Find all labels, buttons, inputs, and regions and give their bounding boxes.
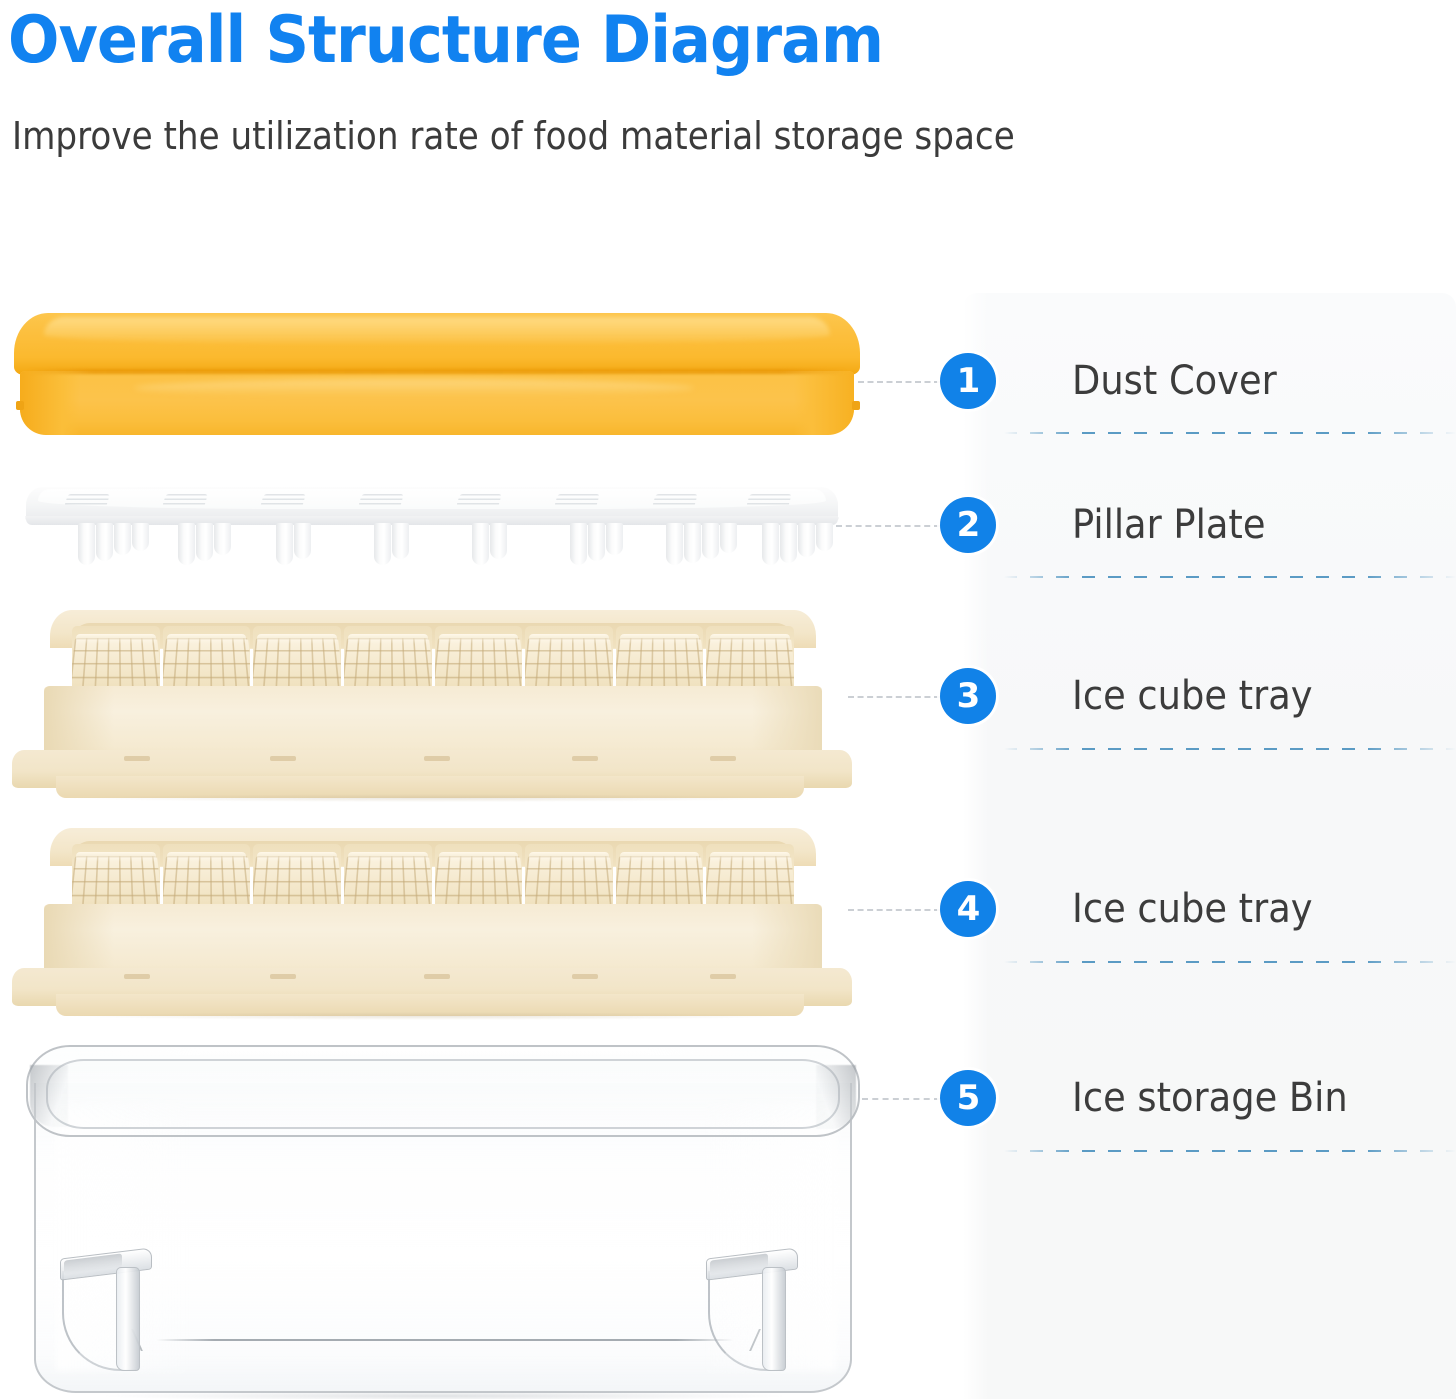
pillar-plate-slot <box>260 494 306 507</box>
tray-shadow <box>72 1012 792 1020</box>
tray-cell <box>525 844 613 910</box>
callout-badge-1[interactable]: 1 <box>940 353 996 409</box>
pillar <box>472 523 489 565</box>
cell-grid-texture <box>435 638 523 692</box>
flange-tab <box>710 756 736 761</box>
flange-tab <box>124 974 150 979</box>
tray-cell <box>435 626 523 692</box>
tray-cell <box>72 844 160 910</box>
cell-grid-texture <box>163 638 251 692</box>
flange-tab <box>124 756 150 761</box>
cell-grid-texture <box>253 638 341 692</box>
cell-grid-texture <box>706 638 794 692</box>
cell-highlight <box>710 634 790 644</box>
tray-cell <box>253 844 341 910</box>
bin-corner-left-shade <box>30 1065 68 1127</box>
pillar <box>780 523 797 563</box>
tray-shadow <box>72 794 792 802</box>
handle-post <box>762 1267 786 1371</box>
leader-line-2 <box>836 525 940 527</box>
tray-cells <box>72 844 794 910</box>
bin-corner-right-shade <box>816 1065 856 1129</box>
pillar <box>374 523 391 565</box>
structure-diagram-page: Overall Structure Diagram Improve the ut… <box>0 0 1456 1399</box>
pillar <box>490 523 507 559</box>
cell-highlight <box>620 634 700 644</box>
cell-grid-texture <box>616 638 704 692</box>
tray-cell <box>435 844 523 910</box>
dust-cover-gloss <box>134 379 694 397</box>
cell-highlight <box>167 852 247 862</box>
cell-highlight <box>529 852 609 862</box>
tray-cells <box>72 626 794 692</box>
flange-tab <box>270 974 296 979</box>
pillar <box>276 523 293 565</box>
pillar <box>684 523 701 563</box>
pillar <box>294 523 311 559</box>
flange-tab <box>270 756 296 761</box>
bin-handle-left <box>60 1253 152 1371</box>
page-subtitle: Improve the utilization rate of food mat… <box>12 110 1272 162</box>
handle-post <box>116 1267 140 1371</box>
pillar-plate-slot <box>554 494 600 507</box>
cell-grid-texture <box>616 856 704 910</box>
flange-tab <box>572 974 598 979</box>
cell-grid-texture <box>344 856 432 910</box>
callout-badge-5[interactable]: 5 <box>940 1070 996 1126</box>
cell-highlight <box>620 852 700 862</box>
pillar <box>762 523 779 565</box>
callout-divider-1 <box>1004 432 1456 434</box>
cell-highlight <box>348 634 428 644</box>
pillar <box>78 523 95 565</box>
dust-cover-top-sheen <box>44 317 830 343</box>
cell-highlight <box>348 852 428 862</box>
ice-cube-tray-illustration-upper <box>12 610 852 795</box>
dust-cover-right-nub <box>852 401 860 410</box>
cell-highlight <box>710 852 790 862</box>
pillar-plate-slot <box>64 494 110 507</box>
cell-highlight <box>76 634 156 644</box>
pillar-plate-slot <box>358 494 404 507</box>
tray-cell <box>706 626 794 692</box>
cell-highlight <box>529 634 609 644</box>
panel-edge-fade <box>963 293 989 1399</box>
cell-grid-texture <box>706 856 794 910</box>
cell-highlight <box>76 852 156 862</box>
cell-grid-texture <box>344 638 432 692</box>
tray-cell <box>344 626 432 692</box>
page-title: Overall Structure Diagram <box>8 2 1171 80</box>
callout-badge-3[interactable]: 3 <box>940 668 996 724</box>
pillar <box>196 523 213 561</box>
flange-tab <box>710 974 736 979</box>
pillar-plate-slot <box>162 494 208 507</box>
dust-cover-seam <box>28 369 846 374</box>
parts-legend-panel <box>963 293 1456 1399</box>
dust-cover-left-shade <box>20 371 80 435</box>
pillar <box>214 523 231 555</box>
cell-highlight <box>257 852 337 862</box>
pillar <box>178 523 195 565</box>
tray-cell <box>616 626 704 692</box>
callout-divider-3 <box>1004 748 1456 750</box>
cell-grid-texture <box>253 856 341 910</box>
pillar <box>720 523 737 553</box>
bin-handle-right <box>706 1253 798 1371</box>
pillar <box>132 523 149 551</box>
cell-grid-texture <box>72 856 160 910</box>
bin-rim-highlight <box>74 1048 774 1055</box>
pillar <box>570 523 587 565</box>
cell-highlight <box>167 634 247 644</box>
callout-label-4: Ice cube tray <box>1072 882 1422 936</box>
tray-cell <box>163 844 251 910</box>
callout-label-1: Dust Cover <box>1072 354 1422 408</box>
tray-cell <box>616 844 704 910</box>
dust-cover-left-nub <box>16 401 24 410</box>
dust-cover-illustration <box>14 313 860 435</box>
pillar <box>114 523 131 555</box>
pillar-plate-slot <box>456 494 502 507</box>
pillar <box>588 523 605 561</box>
pillar <box>798 523 815 557</box>
callout-label-5: Ice storage Bin <box>1072 1071 1422 1125</box>
tray-cell <box>163 626 251 692</box>
leader-line-1 <box>858 381 940 383</box>
cell-highlight <box>439 852 519 862</box>
tray-cell <box>344 844 432 910</box>
pillar <box>702 523 719 559</box>
callout-label-2: Pillar Plate <box>1072 498 1422 552</box>
leader-line-3 <box>848 696 940 698</box>
cell-grid-texture <box>435 856 523 910</box>
tray-cell <box>72 626 160 692</box>
flange-tab <box>572 756 598 761</box>
bin-rim-inner <box>46 1059 840 1129</box>
cell-highlight <box>257 634 337 644</box>
callout-badge-4[interactable]: 4 <box>940 881 996 937</box>
flange-tab <box>424 756 450 761</box>
dust-cover-right-shade <box>794 371 854 435</box>
callout-divider-2 <box>1004 576 1456 578</box>
cell-grid-texture <box>72 638 160 692</box>
pillar <box>666 523 683 565</box>
pillar-plate-slot <box>746 494 792 507</box>
cell-grid-texture <box>525 638 613 692</box>
ice-cube-tray-illustration-lower <box>12 828 852 1013</box>
pillar <box>606 523 623 555</box>
leader-line-4 <box>848 909 940 911</box>
pillar-plate-illustration <box>26 487 838 569</box>
leader-line-5 <box>862 1098 940 1100</box>
pillar-plate-slot <box>652 494 698 507</box>
flange-tab <box>424 974 450 979</box>
cell-highlight <box>439 634 519 644</box>
tray-cell <box>525 626 613 692</box>
pillar-plate-deck-top <box>38 489 826 509</box>
callout-badge-2[interactable]: 2 <box>940 497 996 553</box>
pillar <box>392 523 409 559</box>
pillar <box>816 523 833 551</box>
cell-grid-texture <box>163 856 251 910</box>
bin-shadow <box>106 1391 782 1399</box>
tray-cell <box>253 626 341 692</box>
cell-grid-texture <box>525 856 613 910</box>
callout-divider-4 <box>1004 961 1456 963</box>
bin-floor-line <box>156 1339 734 1341</box>
callout-label-3: Ice cube tray <box>1072 669 1422 723</box>
ice-storage-bin-illustration <box>16 1043 872 1399</box>
tray-cell <box>706 844 794 910</box>
pillar <box>96 523 113 561</box>
callout-divider-5 <box>1004 1150 1456 1152</box>
